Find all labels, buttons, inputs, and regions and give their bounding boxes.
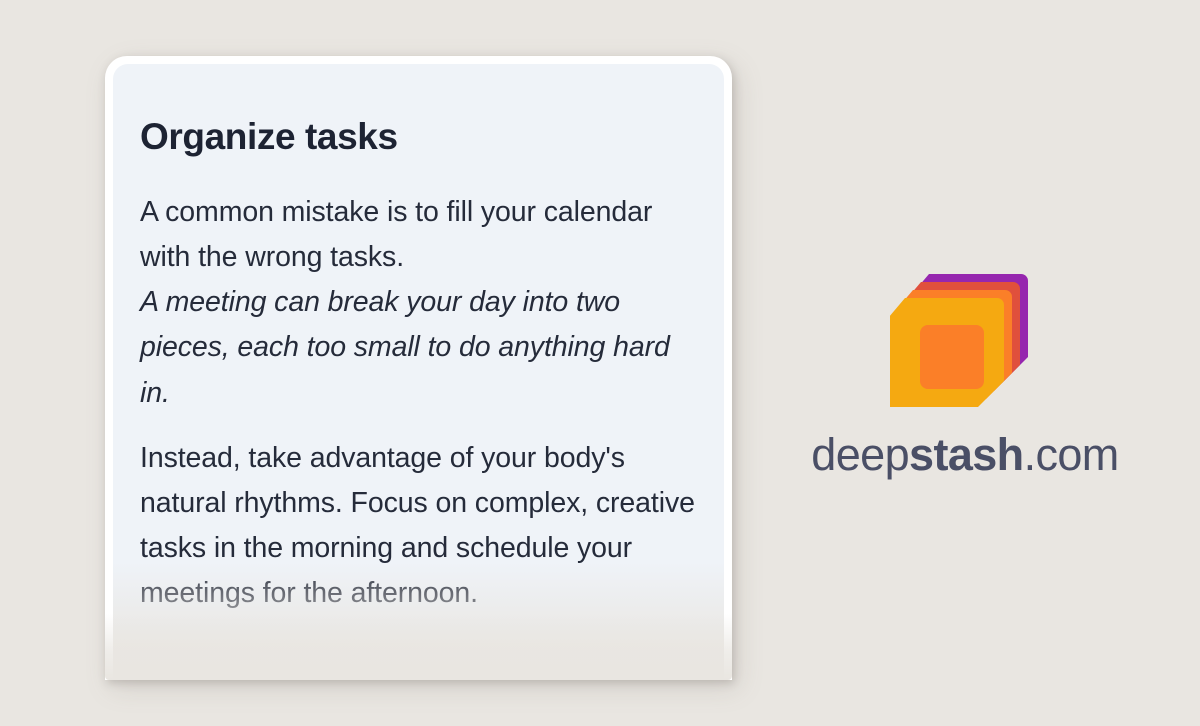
screenshot-stage: Organize tasks A common mistake is to fi…: [0, 0, 1200, 726]
idea-paragraph-1-emphasis: A meeting can break your day into two pi…: [140, 286, 670, 408]
brand-name-light: deep: [811, 429, 909, 480]
brand-name-bold: stash: [909, 429, 1024, 480]
brand-wordmark: deepstash.com: [811, 432, 1118, 477]
idea-paragraph-2: Instead, take advantage of your body's n…: [140, 436, 702, 616]
page-title: Organize tasks: [140, 116, 702, 157]
brand-name-tld: .com: [1024, 429, 1119, 480]
idea-paragraph-1: A common mistake is to fill your calenda…: [140, 190, 702, 415]
idea-card-content: Organize tasks A common mistake is to fi…: [113, 64, 724, 616]
deepstash-stacked-cube-logo-icon: [890, 265, 1040, 410]
brand-block: deepstash.com: [760, 265, 1170, 477]
idea-paragraph-1-plain: A common mistake is to fill your calenda…: [140, 196, 652, 273]
idea-card[interactable]: Organize tasks A common mistake is to fi…: [105, 56, 732, 680]
idea-paragraph-2-plain: Instead, take advantage of your body's n…: [140, 442, 695, 609]
idea-card-surface: Organize tasks A common mistake is to fi…: [113, 64, 724, 680]
